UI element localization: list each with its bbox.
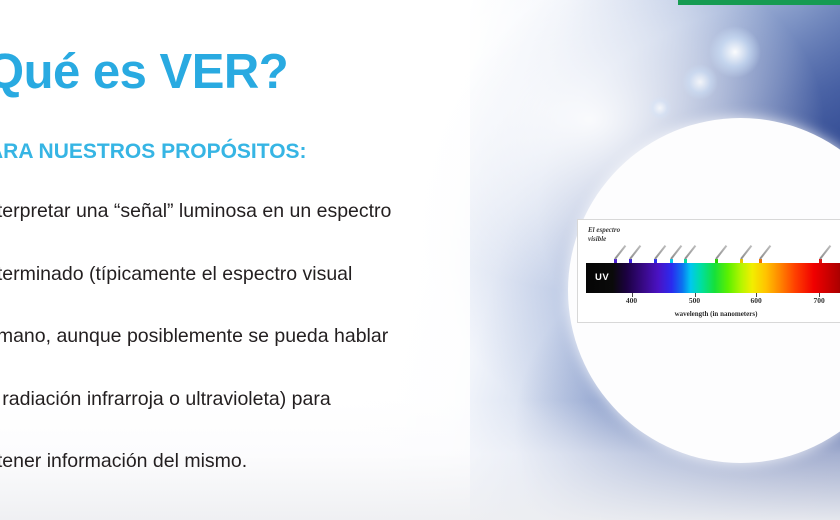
spectrum-leader-line-icon: [614, 245, 626, 260]
body-line: btener información del mismo.: [0, 452, 506, 472]
axis-tick-label: 500: [689, 296, 700, 305]
figure-caption-line-2: visible: [588, 235, 620, 244]
body-line: eterminado (típicamente el espectro visu…: [0, 265, 506, 285]
body-line: umano, aunque posiblemente se pueda habl…: [0, 327, 506, 347]
spectrum-leader-line-icon: [684, 245, 696, 260]
spectrum-leader-line-icon: [759, 245, 771, 260]
body-line: e radiación infrarroja o ultravioleta) p…: [0, 390, 506, 410]
axis-title: wavelength (in nanometers): [578, 310, 840, 318]
spectrum-gradient: [586, 263, 840, 293]
visible-spectrum-figure: El espectro visible UV 400500600700 wave…: [577, 219, 840, 323]
slide-subtitle: ARA NUESTROS PROPÓSITOS:: [0, 140, 307, 164]
spectrum-leader-line-icon: [715, 245, 727, 260]
spectrum-leader-line-icon: [819, 245, 831, 260]
spectrum-leader-line-icon: [740, 245, 752, 260]
figure-caption-line-1: El espectro: [588, 226, 620, 235]
spectrum-leader-line-icon: [655, 245, 667, 260]
axis-tick-label: 400: [626, 296, 637, 305]
slide-body-text: nterpretar una “señal” luminosa en un es…: [0, 202, 506, 515]
axis-tick-label: 600: [751, 296, 762, 305]
presentation-slide: Qué es VER? ARA NUESTROS PROPÓSITOS: nte…: [0, 0, 840, 520]
figure-caption: El espectro visible: [588, 226, 620, 244]
axis-tick-label: 700: [814, 296, 825, 305]
uv-label: UV: [595, 272, 609, 283]
slide-title: Qué es VER?: [0, 44, 288, 100]
spectrum-leader-line-icon: [671, 245, 683, 260]
spectrum-leader-line-icon: [629, 245, 641, 260]
spectrum-band: UV: [586, 263, 840, 293]
wavelength-axis: 400500600700: [586, 293, 840, 307]
green-accent-bar: [678, 0, 840, 5]
body-line: nterpretar una “señal” luminosa en un es…: [0, 202, 506, 222]
